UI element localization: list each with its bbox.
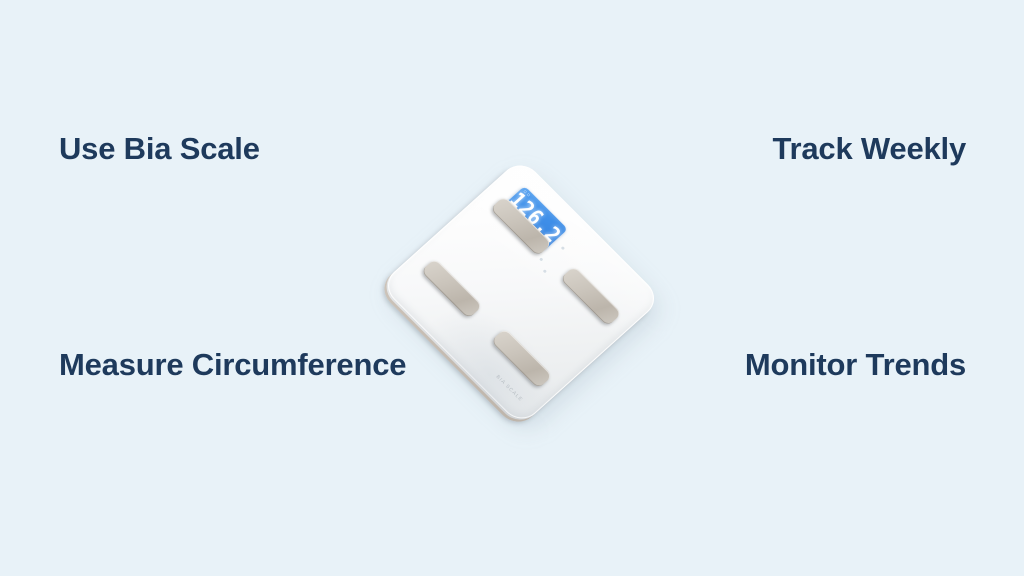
poster-canvas: Use Bia Scale Track Weekly Measure Circu… [0, 0, 1024, 576]
status-dot-icon [561, 246, 565, 250]
status-dot-icon [539, 257, 543, 261]
label-monitor-trends: Monitor Trends [546, 344, 966, 387]
electrode-pad [421, 258, 483, 319]
label-use-bia-scale: Use Bia Scale [59, 128, 359, 171]
electrode-pad [560, 266, 622, 327]
label-track-weekly: Track Weekly [546, 128, 966, 171]
status-dot-icon [543, 269, 547, 273]
label-measure-circumference: Measure Circumference [59, 344, 539, 387]
